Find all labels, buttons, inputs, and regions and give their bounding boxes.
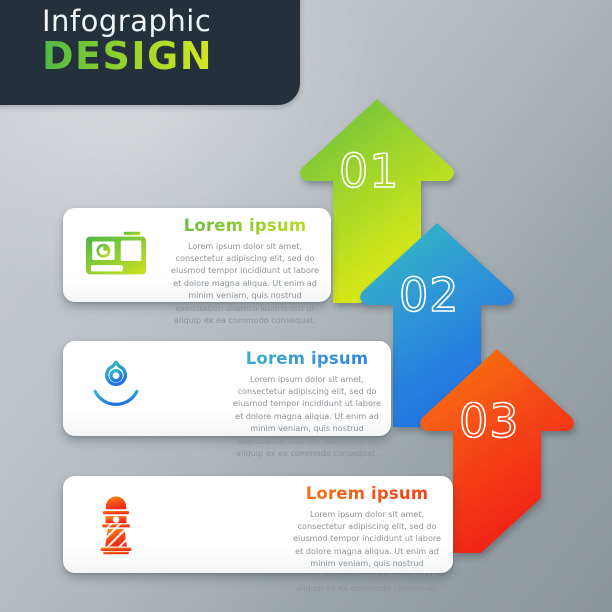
card-heading-3: Lorem ipsum [285,484,449,505]
card-body-1: Lorem ipsum dolor sit amet, consectetur … [163,240,327,327]
card-body-2: Lorem ipsum dolor sit amet, consectetur … [225,373,389,460]
card-text-1: Lorem ipsum Lorem ipsum dolor sit amet, … [163,216,327,326]
page-subtitle: DESIGN [42,34,213,78]
action-camera-icon [85,224,147,286]
card-text-3: Lorem ipsum Lorem ipsum dolor sit amet, … [285,484,449,594]
card-body-3: Lorem ipsum dolor sit amet, consectetur … [285,508,449,595]
step-card-3[interactable]: Lorem ipsum Lorem ipsum dolor sit amet, … [63,476,453,573]
step-card-1[interactable]: Lorem ipsum Lorem ipsum dolor sit amet, … [63,208,331,302]
lighthouse-icon [85,494,147,556]
page-title: Infographic [42,4,211,38]
step-number-2: 02 [399,268,460,322]
card-heading-2: Lorem ipsum [225,349,389,370]
card-heading-1: Lorem ipsum [163,216,327,237]
infographic-canvas: 01 02 [0,0,612,612]
header-banner: Infographic DESIGN [0,0,300,105]
card-text-2: Lorem ipsum Lorem ipsum dolor sit amet, … [225,349,389,459]
step-number-3: 03 [459,394,520,448]
anchor-icon [85,358,147,420]
step-number-1: 01 [339,144,400,198]
step-card-2[interactable]: Lorem ipsum Lorem ipsum dolor sit amet, … [63,341,391,436]
